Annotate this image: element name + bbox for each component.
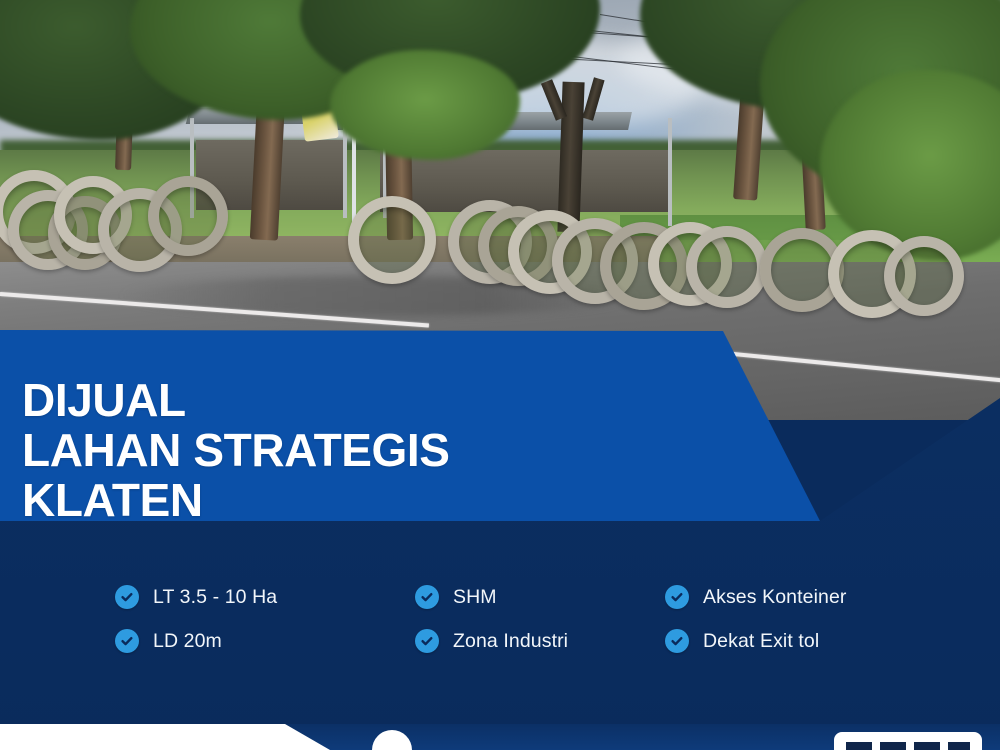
feature-item-zoning: Zona Industri (415, 629, 665, 653)
check-circle-icon (665, 629, 689, 653)
culvert-ring (348, 196, 436, 284)
feature-label: Akses Konteiner (703, 586, 847, 609)
feature-item-frontage: LD 20m (115, 629, 415, 653)
headline-line-3: KLATEN (22, 475, 450, 525)
feature-item-land-area: LT 3.5 - 10 Ha (115, 585, 415, 609)
headline-line-1: DIJUAL (22, 375, 450, 425)
footer-bar (0, 724, 1000, 750)
feature-label: LT 3.5 - 10 Ha (153, 586, 277, 609)
feature-label: Dekat Exit tol (703, 630, 819, 653)
feature-list: LT 3.5 - 10 Ha SHM Akses Konteiner (0, 575, 1000, 685)
page-title: DIJUAL LAHAN STRATEGIS KLATEN (22, 375, 450, 525)
feature-label: Zona Industri (453, 630, 568, 653)
headline-line-2: LAHAN STRATEGIS (22, 425, 450, 475)
property-listing-poster: DIJUAL LAHAN STRATEGIS KLATEN LT 3.5 - 1… (0, 0, 1000, 750)
culvert-ring (686, 226, 768, 308)
feature-item-container-access: Akses Konteiner (665, 585, 1000, 609)
feature-item-certificate: SHM (415, 585, 665, 609)
feature-label: LD 20m (153, 630, 222, 653)
culvert-ring (884, 236, 964, 316)
footer-badge-text (846, 742, 970, 750)
feature-item-toll-exit: Dekat Exit tol (665, 629, 1000, 653)
check-circle-icon (115, 629, 139, 653)
culvert-ring (148, 176, 228, 256)
check-circle-icon (665, 585, 689, 609)
check-circle-icon (115, 585, 139, 609)
check-circle-icon (415, 585, 439, 609)
shed-post (668, 118, 672, 226)
tree-canopy (330, 50, 520, 160)
footer-white-wedge (0, 724, 330, 750)
check-circle-icon (415, 629, 439, 653)
feature-label: SHM (453, 586, 497, 609)
